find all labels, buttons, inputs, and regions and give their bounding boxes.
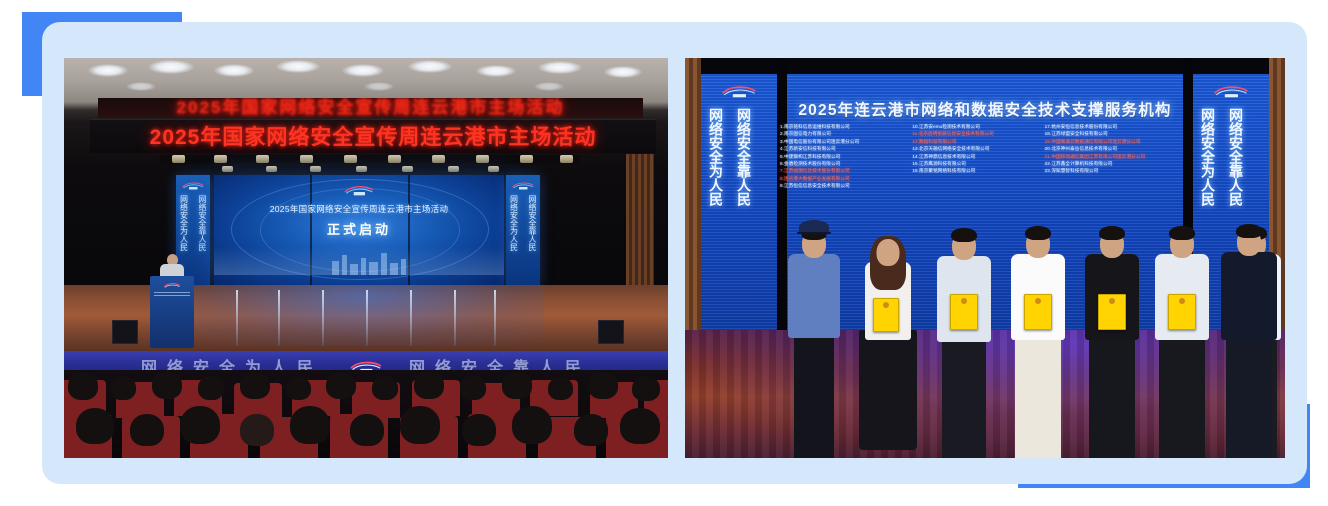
ceiling-light bbox=[276, 60, 320, 73]
ceiling-light bbox=[148, 60, 194, 74]
audience-head bbox=[548, 377, 573, 400]
audience-head bbox=[152, 371, 182, 399]
microphone-stand bbox=[410, 290, 412, 346]
audience-head bbox=[290, 406, 330, 444]
microphone-stand bbox=[366, 290, 368, 346]
stage-spotlight bbox=[432, 155, 445, 163]
skyline-building bbox=[361, 258, 366, 275]
stage-spotlight bbox=[344, 155, 357, 163]
organization-item: 19.中国联通云数据通信有限公司连云港分公司 bbox=[1045, 139, 1165, 145]
person-legs bbox=[1089, 332, 1135, 458]
skyline-building bbox=[350, 264, 358, 275]
cybersecurity-week-logo-icon bbox=[341, 184, 377, 196]
audience-head bbox=[110, 376, 136, 400]
skyline-building bbox=[342, 255, 347, 275]
cybersecurity-week-logo-icon bbox=[719, 84, 759, 98]
side-panel-slogan-a: 网络安全为人民 bbox=[509, 195, 519, 251]
audience-head bbox=[372, 376, 398, 400]
audience-head bbox=[400, 406, 440, 444]
award-side-panel-left: 网络安全为人民 网络安全靠人民 bbox=[701, 74, 777, 330]
audience-head bbox=[68, 372, 98, 400]
stage-spotlight bbox=[402, 166, 413, 172]
organization-item: 2.南京国信电力有限公司 bbox=[780, 131, 900, 137]
skyline-building bbox=[390, 263, 398, 275]
award-plaque bbox=[1098, 294, 1126, 330]
audience-head bbox=[462, 414, 496, 446]
stage-spotlight bbox=[300, 155, 313, 163]
stage-floor-glow bbox=[184, 285, 544, 345]
stage-side-panel-right: 网络安全为人民 网络安全靠人民 bbox=[506, 175, 540, 285]
person-hair bbox=[951, 228, 977, 242]
person-recipient bbox=[1007, 174, 1069, 458]
audience-head bbox=[130, 414, 164, 446]
person-hair bbox=[1169, 226, 1195, 240]
skyline-building bbox=[381, 253, 387, 275]
stage-spotlight bbox=[356, 166, 367, 172]
microphone-stand bbox=[454, 290, 456, 346]
cybersecurity-week-logo-icon bbox=[511, 181, 535, 190]
stage-spotlight bbox=[520, 155, 533, 163]
organization-item: 5.中建钢构江苏科技有限公司 bbox=[780, 154, 900, 160]
organization-item: 21.中国移动通信集团江苏有限公司连云港分公司 bbox=[1045, 154, 1165, 160]
audience-head bbox=[502, 372, 532, 399]
cybersecurity-week-logo-icon bbox=[1211, 84, 1251, 98]
side-panel-slogan-b: 网络安全靠人民 bbox=[198, 195, 208, 251]
ceiling-light bbox=[88, 64, 128, 77]
stage-speaker-box bbox=[112, 320, 138, 344]
ceiling-light bbox=[476, 65, 516, 77]
ceiling-light bbox=[364, 82, 394, 91]
person-recipient bbox=[857, 174, 919, 458]
ceiling-light bbox=[126, 82, 156, 91]
person-legs bbox=[794, 330, 834, 458]
stage-spotlight bbox=[256, 155, 269, 163]
microphone-stand bbox=[236, 290, 238, 346]
stage-spotlight bbox=[488, 166, 499, 172]
audience-head bbox=[76, 408, 114, 444]
podium-text bbox=[154, 292, 190, 297]
person-legs bbox=[1226, 332, 1272, 458]
stage-screen-line1: 2025年国家网络安全宣传周连云港市主场活动 bbox=[270, 203, 449, 215]
audience-head bbox=[180, 406, 220, 444]
person-police-officer bbox=[785, 174, 843, 458]
skyline-building bbox=[369, 262, 378, 275]
person-legs bbox=[1015, 332, 1061, 458]
stage-spotlight bbox=[214, 155, 227, 163]
side-panel-slogan-b: 网络安全靠人民 bbox=[528, 195, 538, 251]
person-hair bbox=[1025, 226, 1051, 240]
microphone-stand bbox=[278, 290, 280, 346]
organization-item: 14.江苏神鼎信息技术有限公司 bbox=[912, 154, 1032, 160]
audience-head bbox=[460, 376, 486, 400]
person-recipient bbox=[1151, 174, 1213, 458]
ceiling-light bbox=[214, 64, 254, 77]
organization-item: 10.江苏安emu检测技术有限公司 bbox=[912, 124, 1032, 130]
stage-spotlight bbox=[172, 155, 185, 163]
audience-head bbox=[512, 406, 552, 444]
audience-head bbox=[240, 414, 274, 446]
award-plaque bbox=[950, 294, 978, 330]
audience-head bbox=[198, 376, 224, 400]
stage-speaker-box bbox=[598, 320, 624, 344]
person-torso bbox=[1221, 252, 1277, 340]
stage-spotlight bbox=[388, 155, 401, 163]
scrolling-led-banner-text: 2025年国家网络安全宣传周连云港市主场活动 bbox=[98, 98, 643, 118]
award-side-slogan-b: 网络安全靠人民 bbox=[735, 108, 752, 206]
skyline-building bbox=[401, 259, 406, 275]
organization-item: 20.北京神州泰岳信息技术有限公司 bbox=[1045, 146, 1165, 152]
audience-head bbox=[414, 371, 444, 399]
award-plaque bbox=[873, 298, 899, 332]
audience-head bbox=[632, 376, 660, 401]
person-official-right bbox=[1205, 174, 1269, 458]
audience-head bbox=[350, 414, 384, 446]
stage-screen-line2: 正式启动 bbox=[327, 219, 391, 238]
microphone-stand bbox=[494, 290, 496, 346]
person-head bbox=[877, 239, 900, 266]
organization-item: 11.北京启明星辰信息安全技术有限公司 bbox=[912, 131, 1032, 137]
organization-item: 13.北京天融信网络安全技术有限公司 bbox=[912, 146, 1032, 152]
organization-item: 18.江苏绿盟安全科技有限公司 bbox=[1045, 131, 1165, 137]
ceiling-light bbox=[534, 82, 564, 91]
opening-ceremony-photo[interactable]: 2025年国家网络安全宣传周连云港市主场活动 2025年国家网络安全宣传周连云港… bbox=[64, 58, 668, 458]
ceiling-light bbox=[538, 61, 582, 74]
main-led-banner: 2025年国家网络安全宣传周连云港市主场活动 bbox=[90, 119, 656, 153]
police-cap-icon bbox=[799, 220, 829, 234]
person-legs bbox=[942, 334, 986, 458]
audience-head bbox=[326, 372, 356, 399]
organization-item: 22.江苏鑫全计算机科技有限公司 bbox=[1045, 161, 1165, 167]
stage-spotlight bbox=[310, 166, 321, 172]
audience-area bbox=[64, 370, 668, 458]
award-plaque bbox=[1168, 294, 1196, 330]
organization-item: 17.杭州安恒信息技术股份有限公司 bbox=[1045, 124, 1165, 130]
award-screen-title: 2025年连云港市网络和数据安全技术支撑服务机构 bbox=[798, 98, 1171, 120]
person-recipient bbox=[1081, 174, 1143, 458]
main-led-banner-text: 2025年国家网络安全宣传周连云港市主场活动 bbox=[150, 121, 597, 151]
organization-item: 1.南京铭科信息运维科技有限公司 bbox=[780, 124, 900, 130]
organization-item: 15.江苏鹰源科技有限公司 bbox=[912, 161, 1032, 167]
award-plaque bbox=[1024, 294, 1052, 330]
speaker-podium bbox=[150, 276, 194, 348]
audience-head bbox=[574, 414, 608, 446]
organization-item: 12.数据科技有限公司 bbox=[912, 139, 1032, 145]
audience-head bbox=[588, 372, 618, 399]
audience-head bbox=[620, 408, 660, 444]
organization-item: 6.金盾检测技术股份有限公司 bbox=[780, 161, 900, 167]
cybersecurity-week-logo-icon bbox=[181, 181, 205, 190]
person-torso bbox=[788, 254, 840, 338]
ceiling-light bbox=[342, 64, 384, 77]
award-side-slogan-a: 网络安全为人民 bbox=[707, 108, 724, 206]
organization-item: 4.江苏新安信科技有限公司 bbox=[780, 146, 900, 152]
person-legs bbox=[1159, 332, 1205, 458]
scrolling-led-banner: 2025年国家网络安全宣传周连云港市主场活动 bbox=[98, 98, 643, 118]
stage-header-shadow bbox=[685, 58, 1285, 74]
award-ceremony-photo[interactable]: 2025年连云港市网络和数据安全技术支撑服务机构 1.南京铭科信息运维科技有限公… bbox=[685, 58, 1285, 458]
audience-head bbox=[286, 377, 311, 400]
person-hair bbox=[1099, 226, 1125, 240]
audience-head bbox=[240, 372, 270, 399]
page-root: 2025年国家网络安全宣传周连云港市主场活动 2025年国家网络安全宣传周连云港… bbox=[0, 0, 1328, 506]
city-skyline-graphic bbox=[214, 247, 504, 275]
stage-spotlight bbox=[266, 166, 277, 172]
person-recipient bbox=[933, 174, 995, 458]
stage-led-wall: 2025年国家网络安全宣传周连云港市主场活动 正式启动 bbox=[214, 175, 504, 285]
person-skirt bbox=[859, 330, 917, 450]
stage-spotlight bbox=[476, 155, 489, 163]
wooden-pillar-left bbox=[685, 58, 701, 330]
skyline-building bbox=[332, 261, 339, 275]
stage-spotlight bbox=[560, 155, 573, 163]
stage-spotlight bbox=[448, 166, 459, 172]
side-panel-slogan-a: 网络安全为人民 bbox=[179, 195, 189, 251]
ceiling-light bbox=[604, 66, 642, 78]
person-hair bbox=[1236, 224, 1262, 238]
organization-item: 3.中国电信股份有限公司连云港分公司 bbox=[780, 139, 900, 145]
stage-spotlight bbox=[222, 166, 233, 172]
microphone-stand bbox=[322, 290, 324, 346]
cybersecurity-week-logo-icon bbox=[163, 282, 181, 289]
ceiling-light bbox=[408, 60, 452, 73]
